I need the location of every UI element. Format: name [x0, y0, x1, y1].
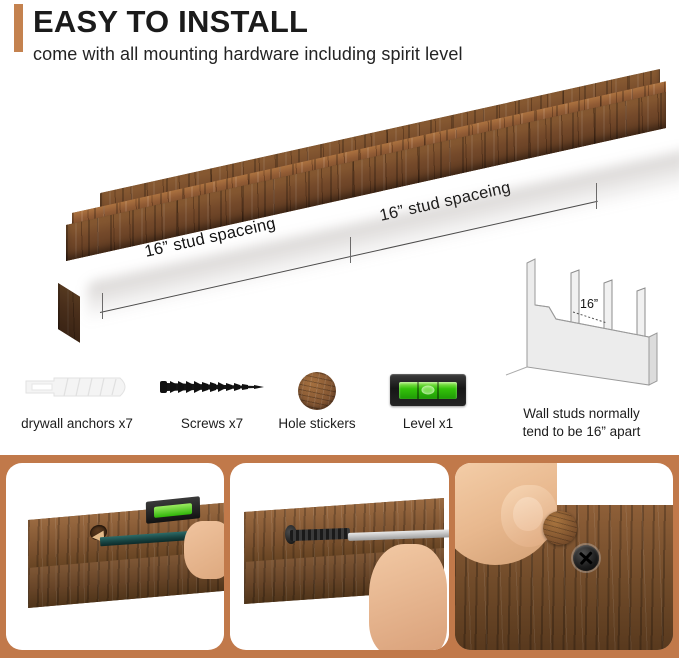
photo-step-drive-screw — [230, 463, 448, 650]
hardware-label: drywall anchors x7 — [2, 416, 152, 431]
screw-icon — [152, 368, 272, 414]
hardware-item-drywall-anchors: drywall anchors x7 — [2, 368, 152, 431]
wall-stud-diagram: 16” Wall studs normally tend to be 16” a… — [494, 245, 669, 445]
stud-caption-line-1: Wall studs normally — [523, 406, 640, 421]
drywall-anchor-svg — [24, 374, 132, 400]
hardware-item-hole-stickers: Hole stickers — [262, 368, 372, 431]
hardware-label: Level x1 — [372, 416, 484, 431]
level-vial — [154, 503, 192, 518]
level-body — [390, 374, 466, 406]
screw-svg — [158, 376, 266, 398]
photo-step-apply-sticker — [455, 463, 673, 650]
thumbnail — [513, 497, 543, 531]
accent-bar — [14, 4, 23, 52]
hand — [369, 544, 447, 650]
hardware-item-screws: Screws x7 — [152, 368, 272, 431]
drywall-anchor-icon — [2, 368, 152, 414]
shelf-end-cap — [58, 283, 80, 343]
header: EASY TO INSTALL come with all mounting h… — [0, 0, 679, 65]
hardware-label: Screws x7 — [152, 416, 272, 431]
installed-screw — [573, 545, 599, 571]
level-bubble — [422, 386, 435, 395]
spirit-level-icon — [372, 368, 484, 414]
hand — [184, 521, 224, 579]
photo-step-mark-hole — [6, 463, 224, 650]
page-subtitle: come with all mounting hardware includin… — [18, 44, 679, 65]
level-vial — [399, 382, 457, 399]
hole-sticker-disc — [298, 372, 336, 410]
wall-stud-svg — [494, 245, 669, 405]
hole-sticker — [543, 511, 577, 545]
screw-shaft — [290, 528, 350, 541]
hole-sticker-icon — [262, 368, 372, 414]
stud-caption-line-2: tend to be 16” apart — [523, 424, 641, 439]
hardware-label: Hole stickers — [262, 416, 372, 431]
installation-step-photos — [0, 455, 679, 658]
stud-dimension-label: 16” — [580, 297, 598, 311]
page-title: EASY TO INSTALL — [18, 6, 679, 39]
included-hardware-row: drywall anchors x7 — [0, 368, 500, 448]
stud-diagram-caption: Wall studs normally tend to be 16” apart — [494, 405, 669, 441]
hardware-item-level: Level x1 — [372, 368, 484, 431]
